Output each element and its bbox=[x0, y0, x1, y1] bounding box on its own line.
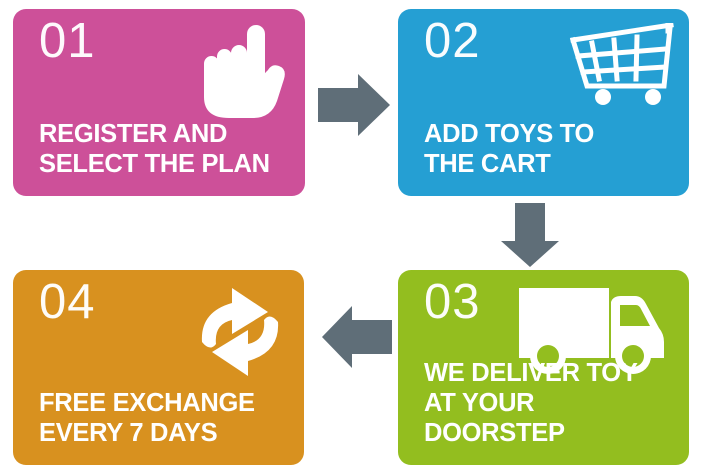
step-label-02: ADD TOYS TO THE CART bbox=[424, 119, 677, 179]
step-number-04: 04 bbox=[39, 278, 96, 327]
step-label-04: FREE EXCHANGE EVERY 7 DAYS bbox=[39, 388, 292, 448]
shopping-cart-icon bbox=[567, 23, 677, 110]
step-label-01: REGISTER AND SELECT THE PLAN bbox=[39, 119, 293, 179]
step-number-01: 01 bbox=[39, 17, 96, 66]
step-number-02: 02 bbox=[424, 17, 481, 66]
step-card-02[interactable]: 02 bbox=[398, 9, 689, 196]
pointing-hand-icon bbox=[195, 23, 287, 125]
arrow-down-icon bbox=[497, 203, 563, 267]
step-number-03: 03 bbox=[424, 278, 481, 327]
step-card-01[interactable]: 01 REGISTER AND SELE bbox=[13, 9, 305, 196]
arrow-left-icon bbox=[322, 306, 392, 368]
arrow-right-icon bbox=[318, 74, 390, 136]
step-card-03[interactable]: 03 WE DELIVER TOY AT YOUR DOORSTEP bbox=[398, 270, 689, 465]
step-card-04[interactable]: 04 FREE EXCHANGE EVERY 7 DAYS bbox=[13, 270, 304, 465]
exchange-arrows-icon bbox=[190, 286, 290, 383]
process-flow-infographic: 01 REGISTER AND SELE bbox=[0, 0, 702, 474]
step-label-03: WE DELIVER TOY AT YOUR DOORSTEP bbox=[424, 358, 677, 448]
